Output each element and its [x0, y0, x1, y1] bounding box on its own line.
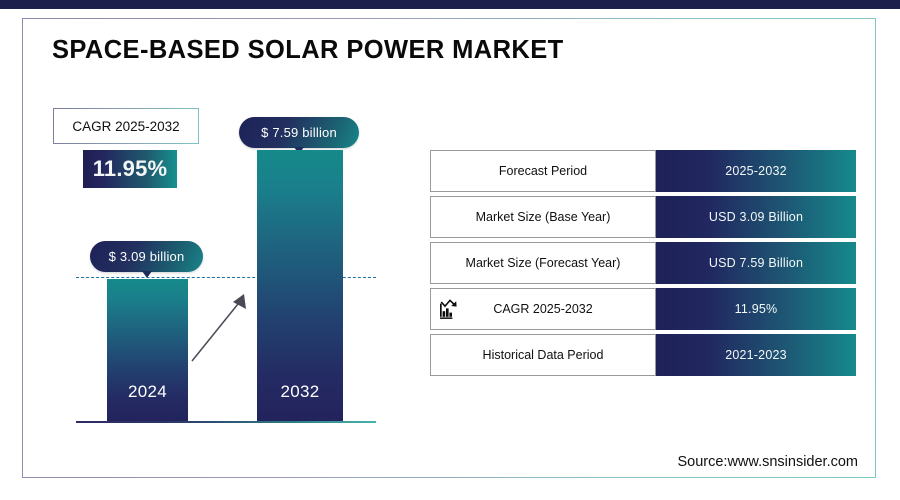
table-row-value: USD 3.09 Billion [709, 210, 803, 224]
bar-2024-category-label: 2024 [107, 382, 188, 402]
table-row-label-cell: Historical Data Period [430, 334, 656, 376]
cagr-value-label: 11.95% [93, 156, 168, 182]
table-row-label: Historical Data Period [483, 348, 604, 362]
table-row: Forecast Period 2025-2032 [430, 150, 856, 192]
table-row: Historical Data Period 2021-2023 [430, 334, 856, 376]
table-row-value-cell: 2025-2032 [656, 150, 856, 192]
table-row-label: CAGR 2025-2032 [493, 302, 592, 316]
bar-2024: 2024 [107, 279, 188, 422]
table-row-value: 11.95% [735, 302, 778, 316]
table-row-label-cell: Forecast Period [430, 150, 656, 192]
bar-chart: CAGR 2025-2032 11.95% $ 7.59 billion $ 3… [0, 0, 430, 500]
bar-2032: 2032 [257, 150, 343, 422]
table-row-label: Market Size (Base Year) [476, 210, 611, 224]
table-row-value: 2025-2032 [725, 164, 787, 178]
market-summary-table: Forecast Period 2025-2032 Market Size (B… [430, 150, 856, 380]
cagr-caption-box: CAGR 2025-2032 [53, 108, 199, 144]
source-attribution: Source:www.snsinsider.com [677, 454, 858, 470]
cagr-value-badge: 11.95% [83, 150, 177, 188]
infographic-canvas: SPACE-BASED SOLAR POWER MARKET CAGR 2025… [0, 0, 900, 500]
growth-arrow-icon [188, 285, 254, 365]
table-row-value: USD 7.59 Billion [709, 256, 803, 270]
value-pill-2024-label: $ 3.09 billion [109, 249, 185, 264]
table-row-value-cell: USD 3.09 Billion [656, 196, 856, 238]
bar-chart-trend-icon [438, 297, 462, 321]
table-row-value-cell: 2021-2023 [656, 334, 856, 376]
table-row: Market Size (Base Year) USD 3.09 Billion [430, 196, 856, 238]
bar-2032-category-label: 2032 [257, 382, 343, 402]
table-row-label-cell: Market Size (Base Year) [430, 196, 656, 238]
value-pill-2032: $ 7.59 billion [239, 117, 359, 148]
value-pill-2032-label: $ 7.59 billion [261, 125, 337, 140]
table-row: CAGR 2025-2032 11.95% [430, 288, 856, 330]
table-row-value: 2021-2023 [725, 348, 787, 362]
value-pill-2024: $ 3.09 billion [90, 241, 203, 272]
cagr-caption-label: CAGR 2025-2032 [72, 119, 179, 134]
chart-baseline-axis [76, 421, 376, 423]
table-row-label: Forecast Period [499, 164, 587, 178]
table-row: Market Size (Forecast Year) USD 7.59 Bil… [430, 242, 856, 284]
table-row-label-cell: CAGR 2025-2032 [430, 288, 656, 330]
table-row-label: Market Size (Forecast Year) [466, 256, 621, 270]
table-row-label-cell: Market Size (Forecast Year) [430, 242, 656, 284]
table-row-value-cell: 11.95% [656, 288, 856, 330]
table-row-value-cell: USD 7.59 Billion [656, 242, 856, 284]
